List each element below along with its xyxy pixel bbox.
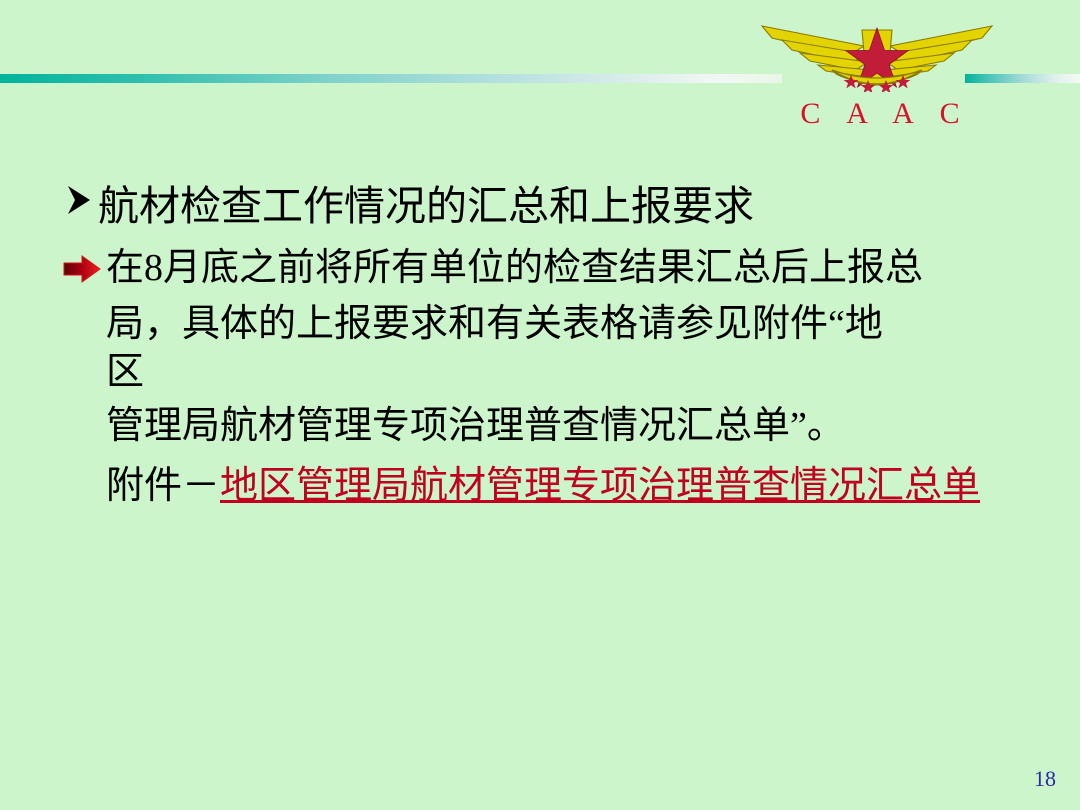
bullet-line-3: 区 [0, 350, 1080, 394]
bullet-line-4: 管理局航材管理专项治理普查情况汇总单”。 [0, 400, 1080, 452]
slide-content: 航材检查工作情况的汇总和上报要求 在8月底之前将所有单位的检查结果汇总后上报总 … [0, 178, 1080, 514]
bullet-line-1: 在8月底之前将所有单位的检查结果汇总后上报总 [106, 247, 923, 289]
caac-wordmark: C A A C [790, 99, 970, 129]
header-divider-left [0, 74, 782, 83]
arrowhead-bullet-icon [66, 184, 92, 216]
bullet-line-2: 局，具体的上报要求和有关表格请参见附件“地 [0, 298, 1080, 350]
caac-emblem-icon [752, 12, 1002, 92]
attachment-prefix: 附件－ [106, 465, 220, 507]
red-arrow-bullet-icon [62, 254, 102, 284]
page-title: 航材检查工作情况的汇总和上报要求 [98, 183, 754, 229]
bullet-main-row: 在8月底之前将所有单位的检查结果汇总后上报总 [0, 242, 1080, 294]
slide-header: C A A C [0, 0, 1080, 150]
bullet-title-row: 航材检查工作情况的汇总和上报要求 [0, 178, 1080, 234]
page-number: 18 [1034, 766, 1056, 792]
attachment-hyperlink[interactable]: 地区管理局航材管理专项治理普查情况汇总单 [220, 465, 980, 507]
attachment-row: 附件－地区管理局航材管理专项治理普查情况汇总单 [0, 458, 1036, 514]
